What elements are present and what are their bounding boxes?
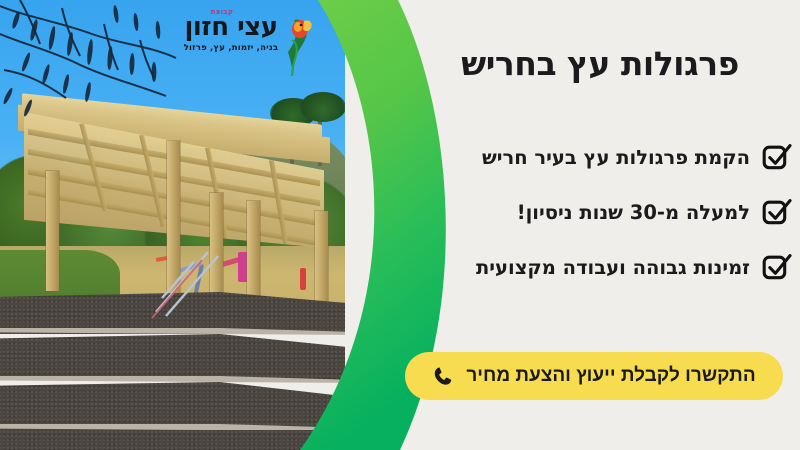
- step-tier: [0, 382, 345, 430]
- checkbox-checked-icon: [762, 142, 792, 172]
- list-item: הקמת פרגולות עץ בעיר חריש: [396, 136, 792, 178]
- metal-railing: [150, 240, 270, 320]
- checkbox-checked-icon: [762, 197, 792, 227]
- list-item-label: הקמת פרגולות עץ בעיר חריש: [482, 146, 750, 169]
- call-cta-label: התקשרו לקבלת ייעוץ והצעת מחיר: [466, 365, 755, 387]
- feature-list: הקמת פרגולות עץ בעיר חריש למעלה מ-30 שנו…: [396, 136, 792, 301]
- call-cta-button[interactable]: התקשרו לקבלת ייעוץ והצעת מחיר: [405, 352, 783, 400]
- pergola-post: [315, 211, 328, 303]
- step-tier: [0, 430, 345, 450]
- page-title: פרגולות עץ בחריש: [410, 44, 790, 83]
- list-item-label: זמינות גבוהה ועבודה מקצועית: [476, 256, 750, 279]
- list-item: זמינות גבוהה ועבודה מקצועית: [396, 246, 792, 288]
- phone-icon: [432, 365, 454, 387]
- list-item: למעלה מ-30 שנות ניסיון!: [396, 191, 792, 233]
- pergola-post: [46, 171, 59, 291]
- checkbox-checked-icon: [762, 252, 792, 282]
- promo-content: פרגולות עץ בחריש הקמת פרגולות עץ בעיר חר…: [380, 0, 800, 450]
- woodpecker-icon: [274, 12, 314, 78]
- list-item-label: למעלה מ-30 שנות ניסיון!: [517, 201, 750, 224]
- step-tier: [0, 334, 345, 380]
- promo-banner: קבוצת עצי חזון בניה, יזמות, עץ, פרזול פר…: [0, 0, 800, 450]
- company-logo[interactable]: קבוצת עצי חזון בניה, יזמות, עץ, פרזול: [160, 8, 320, 78]
